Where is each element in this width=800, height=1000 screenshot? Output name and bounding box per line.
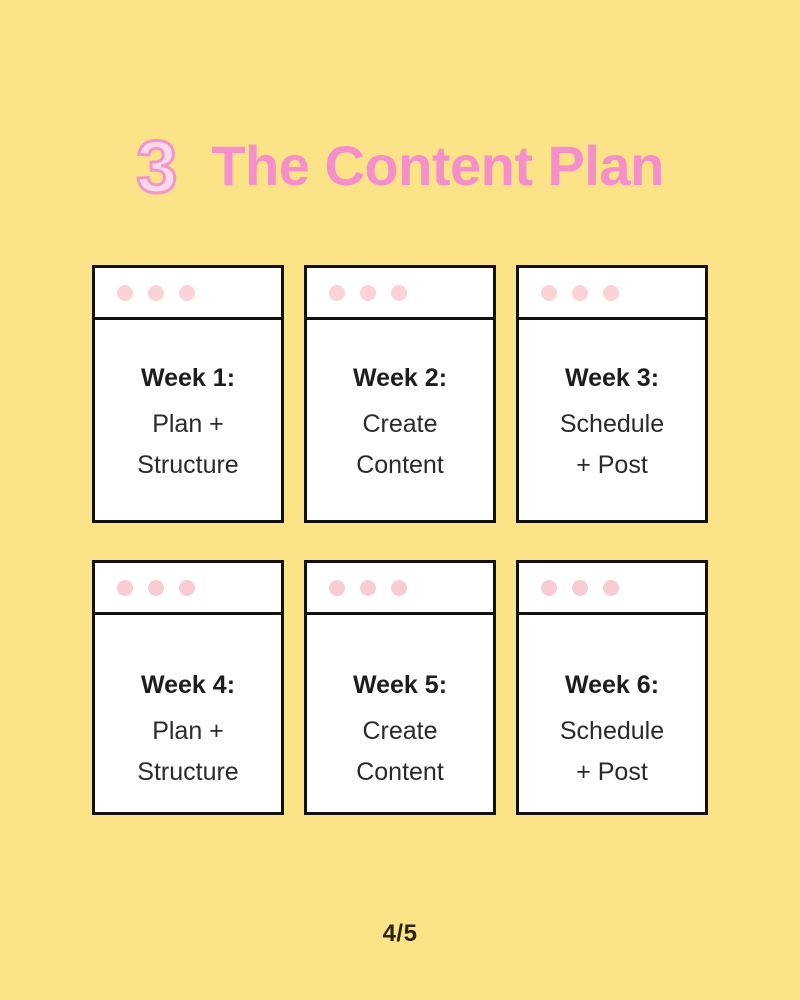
window-dot-icon [148, 580, 164, 596]
page-indicator: 4/5 [383, 920, 418, 947]
window-dot-icon [541, 580, 557, 596]
window-dot-icon [360, 285, 376, 301]
window-dot-icon [603, 285, 619, 301]
week-card[interactable]: Week 2: Create Content [304, 265, 496, 523]
window-dot-icon [329, 580, 345, 596]
card-week-label: Week 4: [141, 673, 235, 698]
card-description: Schedule + Post [560, 404, 664, 485]
card-body: Week 6: Schedule + Post [519, 615, 705, 812]
window-dot-icon [391, 580, 407, 596]
card-description: Create Content [356, 404, 444, 485]
page-title: The Content Plan [211, 138, 663, 194]
week-card-grid: Week 1: Plan + Structure Week 2: Create … [92, 265, 708, 815]
window-dot-icon [117, 285, 133, 301]
card-titlebar [307, 268, 493, 320]
window-dot-icon [117, 580, 133, 596]
card-week-label: Week 3: [565, 366, 659, 391]
card-titlebar [519, 268, 705, 320]
card-body: Week 5: Create Content [307, 615, 493, 812]
header: 3 The Content Plan [0, 112, 800, 220]
card-titlebar [307, 563, 493, 615]
window-dot-icon [572, 580, 588, 596]
window-dot-icon [179, 285, 195, 301]
window-dot-icon [148, 285, 164, 301]
week-card[interactable]: Week 4: Plan + Structure [92, 560, 284, 815]
week-card[interactable]: Week 6: Schedule + Post [516, 560, 708, 815]
window-dot-icon [603, 580, 619, 596]
slide-canvas: 3 The Content Plan Week 1: Plan + Struct… [0, 0, 800, 1000]
card-week-label: Week 5: [353, 673, 447, 698]
card-week-label: Week 2: [353, 366, 447, 391]
week-card[interactable]: Week 5: Create Content [304, 560, 496, 815]
step-number: 3 [136, 130, 177, 204]
card-titlebar [95, 268, 281, 320]
card-week-label: Week 6: [565, 673, 659, 698]
card-titlebar [519, 563, 705, 615]
week-card[interactable]: Week 1: Plan + Structure [92, 265, 284, 523]
card-week-label: Week 1: [141, 366, 235, 391]
card-description: Schedule + Post [560, 711, 664, 792]
card-body: Week 2: Create Content [307, 320, 493, 520]
window-dot-icon [391, 285, 407, 301]
card-description: Create Content [356, 711, 444, 792]
window-dot-icon [541, 285, 557, 301]
card-body: Week 1: Plan + Structure [95, 320, 281, 520]
window-dot-icon [572, 285, 588, 301]
window-dot-icon [329, 285, 345, 301]
card-body: Week 3: Schedule + Post [519, 320, 705, 520]
card-description: Plan + Structure [137, 404, 238, 485]
week-card[interactable]: Week 3: Schedule + Post [516, 265, 708, 523]
card-body: Week 4: Plan + Structure [95, 615, 281, 812]
window-dot-icon [360, 580, 376, 596]
window-dot-icon [179, 580, 195, 596]
card-description: Plan + Structure [137, 711, 238, 792]
card-titlebar [95, 563, 281, 615]
footer: 4/5 [0, 920, 800, 948]
